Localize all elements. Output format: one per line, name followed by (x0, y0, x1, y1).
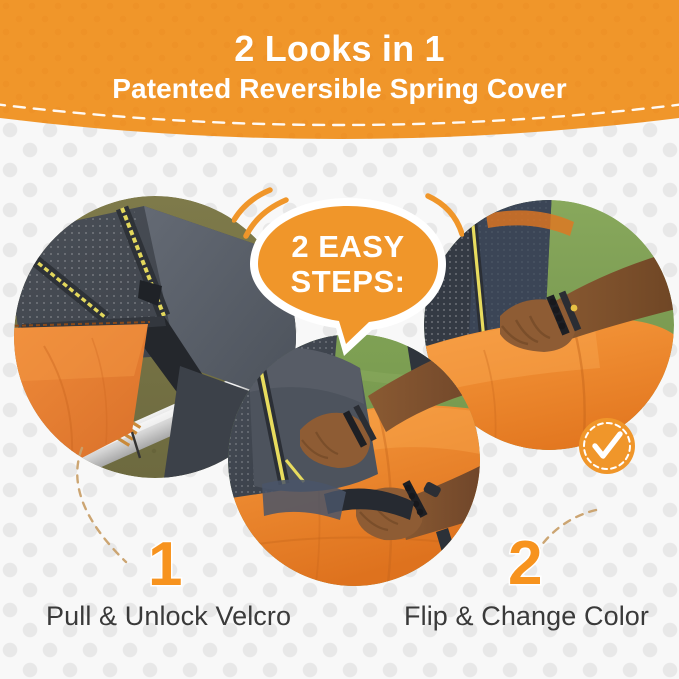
step-number-2: 2 (508, 533, 542, 595)
check-badge (578, 417, 636, 475)
easy-steps-callout: 2 EASY STEPS: (232, 186, 464, 362)
step-caption-1: Pull & Unlock Velcro (46, 601, 291, 632)
motion-lines-right (428, 196, 462, 234)
callout-shape (232, 186, 464, 362)
step-caption-2: Flip & Change Color (404, 601, 649, 632)
check-badge-circle (579, 418, 635, 474)
header-banner: 2 Looks in 1 Patented Reversible Spring … (0, 0, 679, 160)
header-text-group: 2 Looks in 1 Patented Reversible Spring … (0, 0, 679, 105)
page-subtitle: Patented Reversible Spring Cover (0, 74, 679, 105)
photo-flip-cover (228, 334, 480, 586)
step-number-1: 1 (148, 534, 182, 596)
callout-bubble (250, 198, 446, 356)
page-title: 2 Looks in 1 (0, 30, 679, 68)
